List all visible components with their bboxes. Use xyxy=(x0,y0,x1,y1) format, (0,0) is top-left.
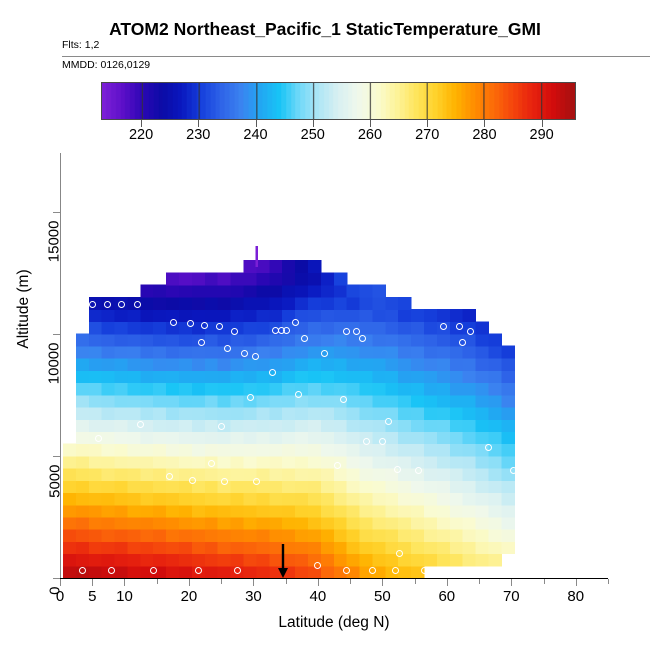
x-axis-tick xyxy=(253,579,254,586)
profile-marker xyxy=(147,266,154,273)
profile-marker xyxy=(415,467,422,474)
profile-marker xyxy=(396,550,403,557)
mmdd-annotation: MMDD: 0126,0129 xyxy=(62,59,150,71)
plot-root: ATOM2 Northeast_Pacific_1 StaticTemperat… xyxy=(0,0,650,650)
profile-marker xyxy=(79,567,86,574)
profile-marker xyxy=(134,301,141,308)
page-title: ATOM2 Northeast_Pacific_1 StaticTemperat… xyxy=(0,19,650,40)
x-axis-tick xyxy=(318,579,319,586)
annotation-divider xyxy=(62,56,650,57)
profile-marker xyxy=(234,567,241,574)
colorbar-tick-label: 250 xyxy=(301,127,325,143)
x-axis-tick xyxy=(60,579,61,586)
x-axis-tick-label: 20 xyxy=(181,588,198,605)
flights-annotation: Flts: 1,2 xyxy=(62,39,99,51)
profile-marker xyxy=(321,350,328,357)
profile-marker xyxy=(295,391,302,398)
profile-marker xyxy=(510,467,517,474)
x-axis-tick xyxy=(511,579,512,586)
profile-marker xyxy=(82,269,89,276)
profile-marker xyxy=(301,335,308,342)
profile-marker xyxy=(231,328,238,335)
colorbar-tick xyxy=(427,120,428,127)
profile-marker-layer xyxy=(60,153,608,578)
x-axis-tick xyxy=(576,579,577,586)
profile-marker xyxy=(363,438,370,445)
x-axis-tick-labels: 051020304050607080 xyxy=(60,588,608,608)
profile-marker xyxy=(334,462,341,469)
x-axis-minor-tick xyxy=(479,579,480,584)
colorbar-tick-label: 240 xyxy=(243,127,267,143)
profile-marker xyxy=(379,438,386,445)
profile-marker xyxy=(467,328,474,335)
colorbar-tick xyxy=(313,120,314,127)
x-axis-minor-tick xyxy=(221,579,222,584)
x-axis-tick-label: 60 xyxy=(438,588,455,605)
colorbar-tick xyxy=(484,120,485,127)
profile-marker xyxy=(170,319,177,326)
profile-marker xyxy=(137,421,144,428)
colorbar-gradient xyxy=(101,82,576,120)
profile-marker xyxy=(189,477,196,484)
y-axis-tick-label: 10000 xyxy=(46,342,63,384)
colorbar-tick-label: 260 xyxy=(358,127,382,143)
x-axis-tick xyxy=(124,579,125,586)
colorbar xyxy=(101,82,576,120)
profile-marker xyxy=(247,394,254,401)
profile-marker xyxy=(392,567,399,574)
profile-marker xyxy=(283,327,290,334)
y-axis-tick-label: 15000 xyxy=(46,220,63,262)
x-axis-minor-tick xyxy=(157,579,158,584)
x-axis-tick-label: 5 xyxy=(88,588,96,605)
colorbar-tick xyxy=(370,120,371,127)
profile-marker xyxy=(108,567,115,574)
profile-marker xyxy=(369,567,376,574)
y-axis-tick xyxy=(53,578,60,579)
profile-marker xyxy=(208,460,215,467)
colorbar-tick-label: 220 xyxy=(129,127,153,143)
profile-marker xyxy=(198,339,205,346)
profile-marker xyxy=(104,301,111,308)
x-axis-tick-label: 10 xyxy=(116,588,133,605)
colorbar-tick-labels: 220230240250260270280290 xyxy=(101,127,576,145)
x-axis-tick-label: 40 xyxy=(310,588,327,605)
colorbar-tick-label: 270 xyxy=(415,127,439,143)
profile-marker xyxy=(421,567,428,574)
profile-marker xyxy=(343,328,350,335)
x-axis-tick xyxy=(189,579,190,586)
x-axis-minor-tick xyxy=(415,579,416,584)
x-axis-tick xyxy=(382,579,383,586)
y-axis-tick-label: 0 xyxy=(46,587,63,595)
y-axis-tick xyxy=(53,212,60,213)
profile-marker xyxy=(95,435,102,442)
x-axis-tick-label: 70 xyxy=(503,588,520,605)
profile-marker xyxy=(241,350,248,357)
colorbar-tick xyxy=(256,120,257,127)
y-axis-tick xyxy=(53,334,60,335)
profile-marker xyxy=(166,473,173,480)
colorbar-tick xyxy=(542,120,543,127)
x-axis-minor-tick xyxy=(608,579,609,584)
x-axis-tick xyxy=(92,579,93,586)
profile-marker xyxy=(292,319,299,326)
profile-marker xyxy=(340,396,347,403)
profile-marker xyxy=(187,320,194,327)
profile-marker xyxy=(201,322,208,329)
x-axis-ticks xyxy=(60,579,608,587)
profile-marker xyxy=(440,323,447,330)
x-axis-tick xyxy=(447,579,448,586)
x-axis-minor-tick xyxy=(544,579,545,584)
profile-marker xyxy=(485,444,492,451)
profile-marker xyxy=(221,478,228,485)
profile-marker xyxy=(75,301,82,308)
profile-marker xyxy=(456,323,463,330)
x-axis-tick-label: 50 xyxy=(374,588,391,605)
profile-marker xyxy=(353,328,360,335)
x-axis-tick-label: 80 xyxy=(567,588,584,605)
x-axis-minor-tick xyxy=(286,579,287,584)
colorbar-tick xyxy=(198,120,199,127)
x-axis-title: Latitude (deg N) xyxy=(60,614,608,632)
y-axis-title: Altitude (m) xyxy=(15,199,33,419)
profile-marker xyxy=(394,466,401,473)
y-axis-tick xyxy=(53,456,60,457)
pointer-arrow-icon xyxy=(276,544,290,578)
profile-marker xyxy=(224,345,231,352)
plot-area xyxy=(60,153,608,578)
colorbar-tick xyxy=(141,120,142,127)
profile-marker xyxy=(216,323,223,330)
profile-marker xyxy=(218,423,225,430)
profile-marker xyxy=(195,567,202,574)
profile-marker xyxy=(89,301,96,308)
profile-marker xyxy=(269,369,276,376)
profile-marker xyxy=(385,418,392,425)
y-axis-tick-label: 5000 xyxy=(46,464,63,497)
profile-marker xyxy=(459,339,466,346)
profile-marker xyxy=(359,335,366,342)
x-axis-minor-tick xyxy=(350,579,351,584)
profile-marker xyxy=(253,478,260,485)
colorbar-tick-label: 280 xyxy=(472,127,496,143)
profile-marker xyxy=(118,301,125,308)
profile-marker xyxy=(150,567,157,574)
colorbar-tick-label: 230 xyxy=(186,127,210,143)
x-axis-tick-label: 30 xyxy=(245,588,262,605)
colorbar-tick-label: 290 xyxy=(530,127,554,143)
profile-marker xyxy=(343,567,350,574)
profile-marker xyxy=(252,353,259,360)
profile-marker xyxy=(314,562,321,569)
